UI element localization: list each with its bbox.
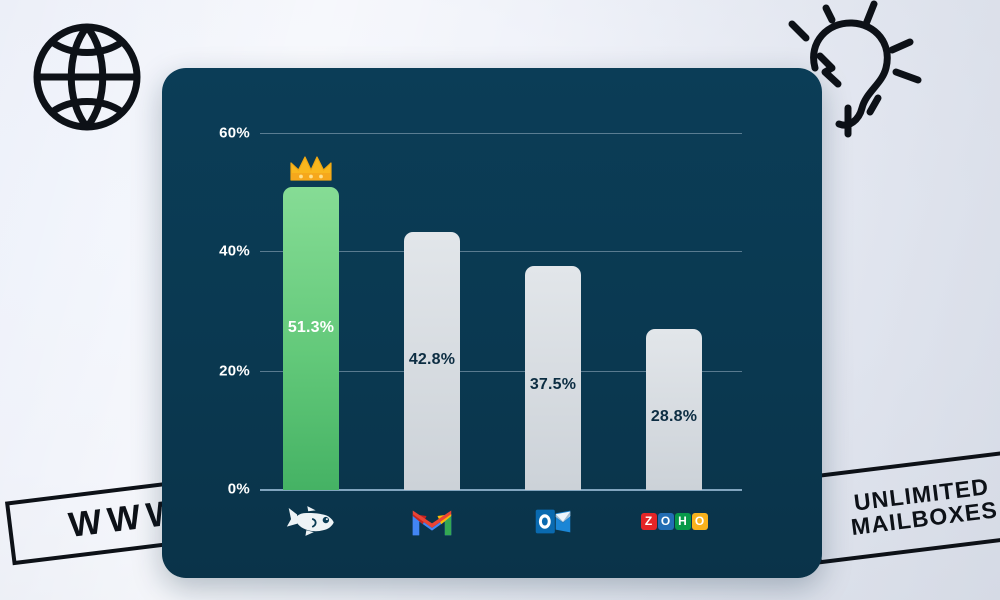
- bar-value-zoho: 28.8%: [651, 408, 697, 426]
- zoho-tile-o1: O: [658, 513, 674, 530]
- bar-value-outlook: 37.5%: [530, 376, 576, 394]
- zoho-tile-z: Z: [641, 513, 657, 530]
- y-tick-label-40: 40%: [162, 243, 250, 260]
- bar-fish-mail[interactable]: [283, 187, 339, 490]
- fish-logo-icon[interactable]: [283, 502, 339, 540]
- bar-value-gmail: 42.8%: [409, 351, 455, 369]
- crown-icon: [288, 152, 334, 182]
- globe-doodle-icon: [22, 12, 152, 142]
- y-tick-label-20: 20%: [162, 363, 250, 380]
- y-tick-label-60: 60%: [162, 125, 250, 142]
- zoho-tile-o2: O: [692, 513, 708, 530]
- gmail-logo-icon[interactable]: [404, 502, 460, 540]
- bar-chart: 60% 40% 20% 0% 51.3% 42.8% 37.5%: [162, 68, 822, 578]
- chart-card: 60% 40% 20% 0% 51.3% 42.8% 37.5%: [162, 68, 822, 578]
- stamp-unlimited-mailboxes: UNLIMITED MAILBOXES: [807, 450, 1000, 565]
- gridline-60: [260, 133, 742, 134]
- screenshot-stage: 60% 40% 20% 0% 51.3% 42.8% 37.5%: [0, 0, 1000, 600]
- zoho-tile-h: H: [675, 513, 691, 530]
- outlook-logo-icon[interactable]: [525, 502, 581, 540]
- bar-value-fish-mail: 51.3%: [288, 319, 334, 337]
- y-tick-label-0: 0%: [162, 481, 250, 498]
- zoho-tiles: ZOHO: [641, 513, 708, 530]
- zoho-logo-icon[interactable]: ZOHO: [646, 502, 702, 540]
